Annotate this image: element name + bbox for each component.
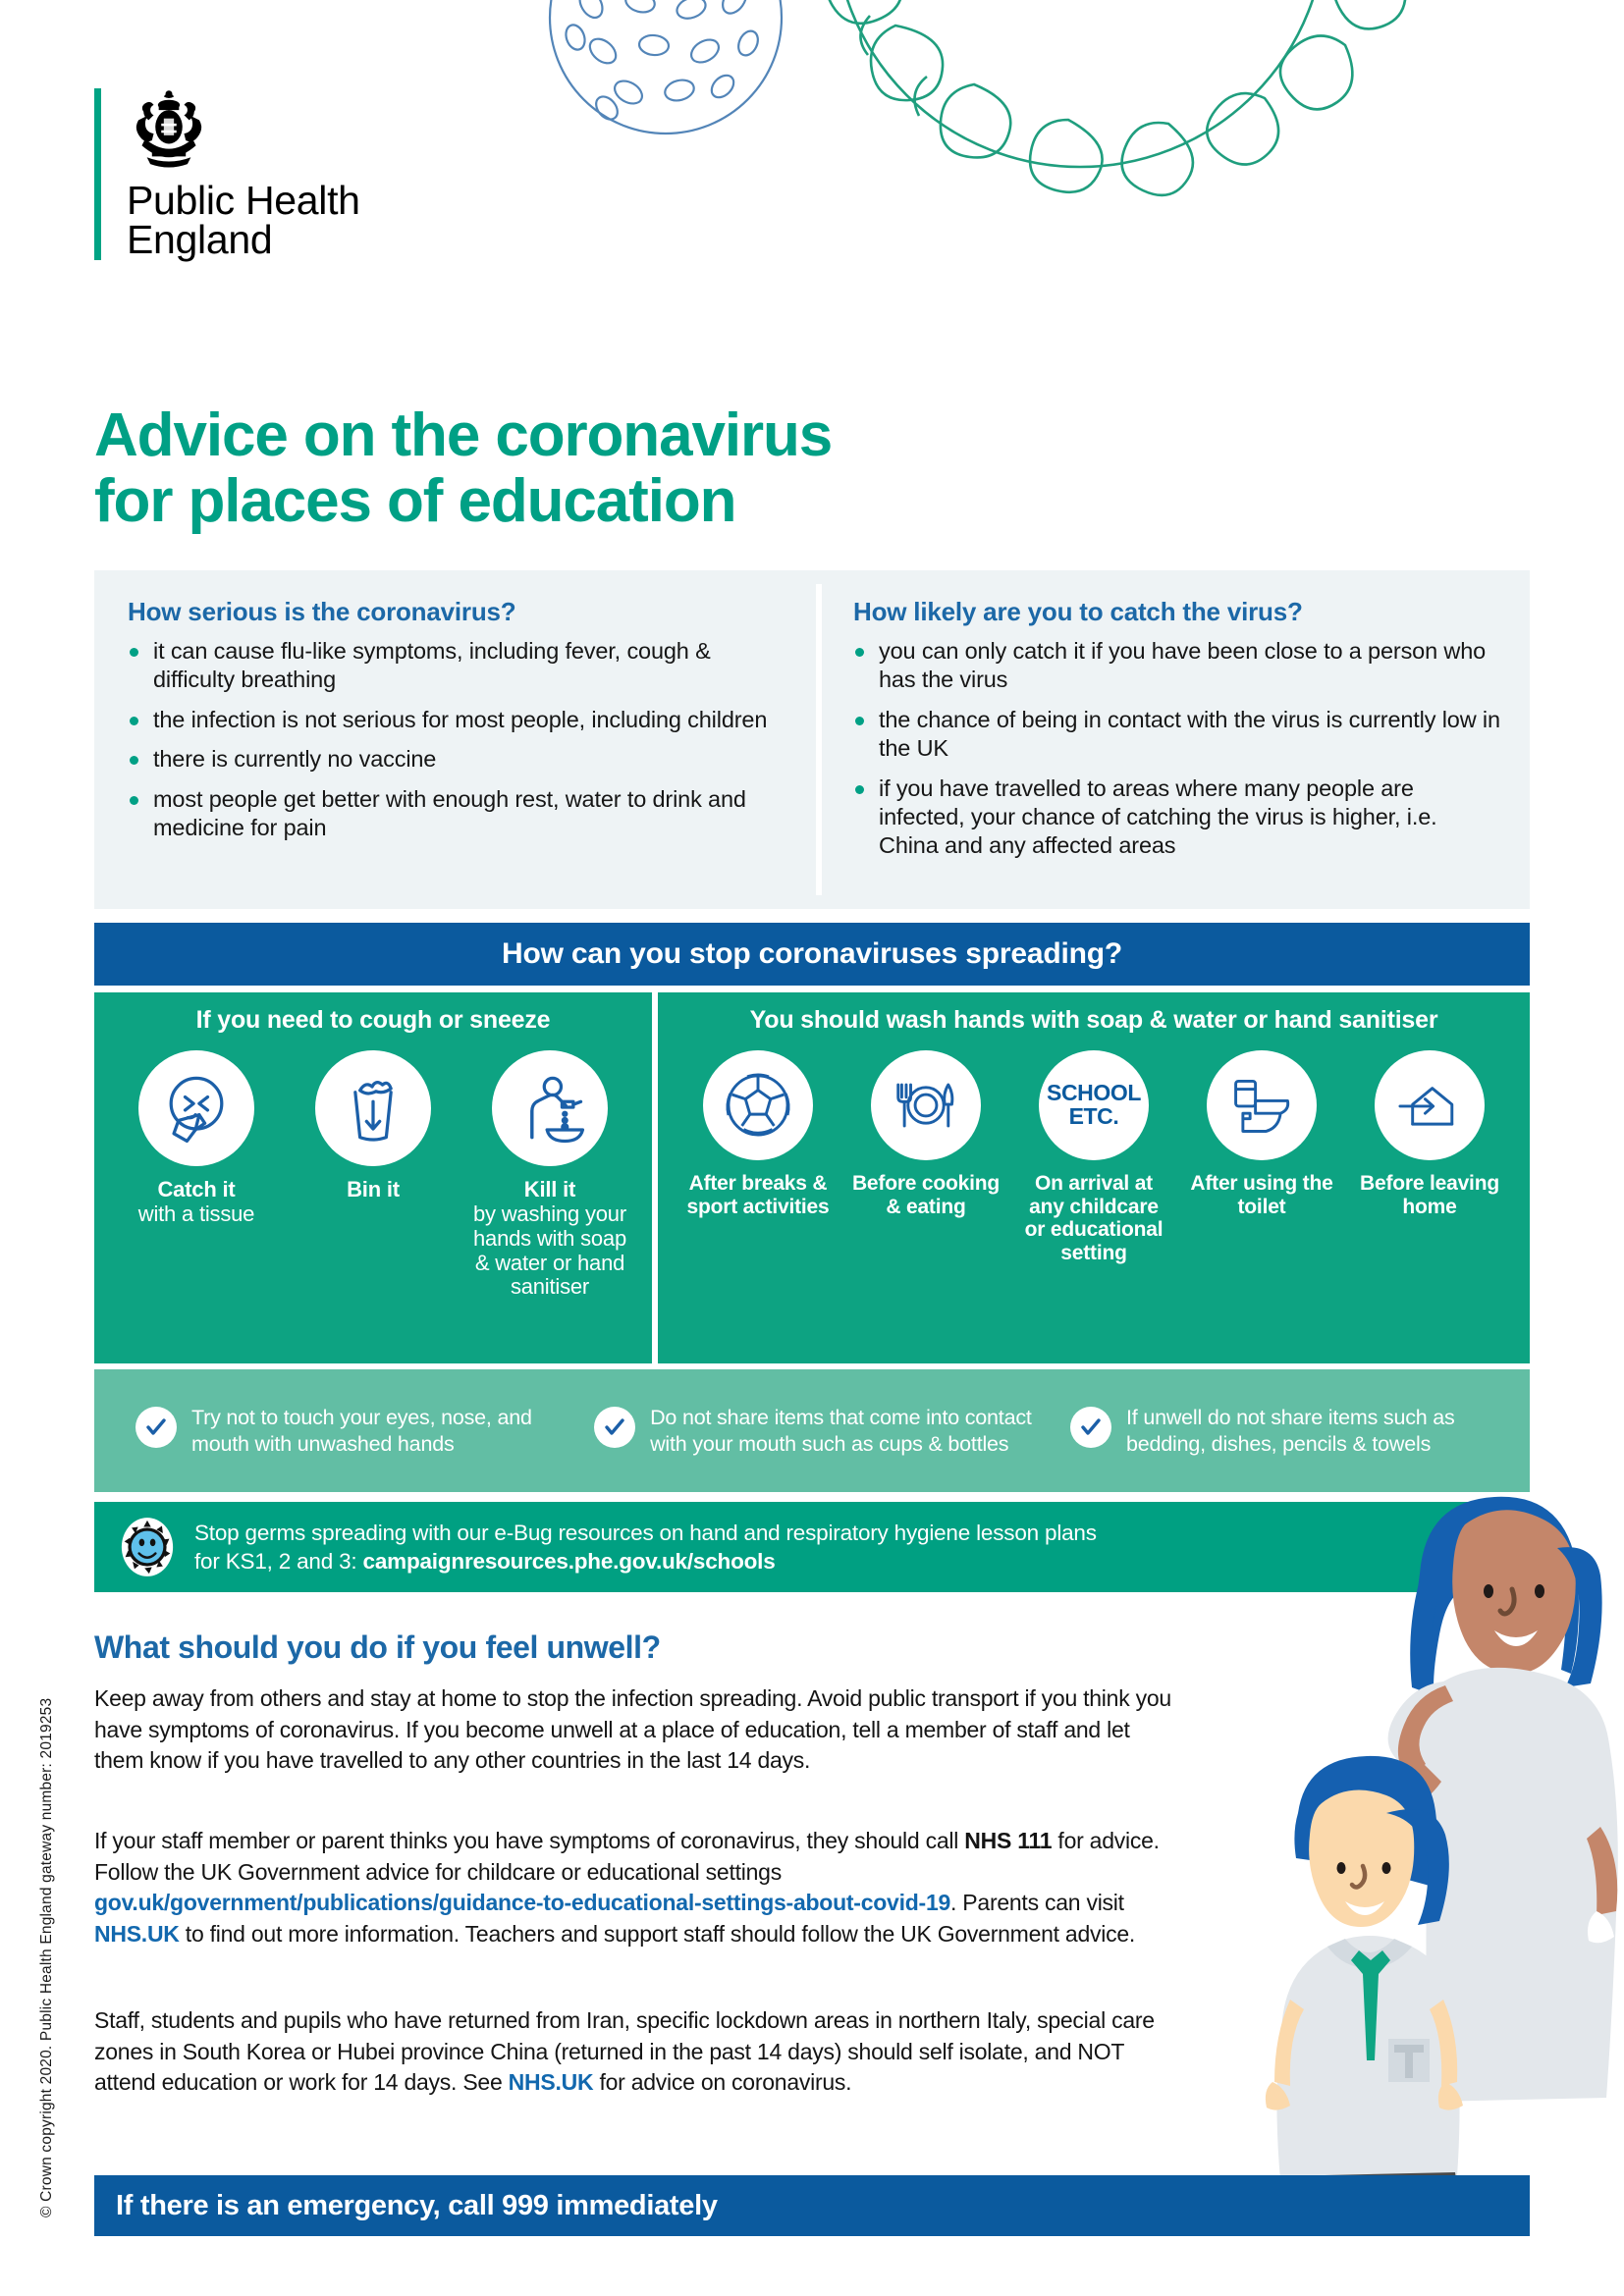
facts-bullet: the chance of being in contact with the … [853,706,1500,764]
ebug-text: Stop germs spreading with our e-Bug reso… [194,1519,1097,1576]
para2-d: to find out more information. Teachers a… [180,1921,1135,1947]
facts-bullet: if you have travelled to areas where man… [853,774,1500,861]
royal-coat-of-arms-icon [127,86,211,171]
bin-icon [315,1050,431,1166]
before-cooking-item: Before cooking & eating [850,1050,1001,1265]
logo-org-line1: Public Health [127,182,360,221]
cough-sneeze-heading: If you need to cough or sneeze [94,992,652,1035]
phe-logo: Public Health England [94,86,360,260]
page-title-line2: for places of education [94,468,832,534]
handwashing-icon [492,1050,608,1166]
unwell-paragraph-1: Keep away from others and stay at home t… [94,1683,1184,1798]
e-bug-germ-icon [120,1517,175,1577]
after-breaks-label: After breaks & sport activities [682,1172,834,1218]
page-title: Advice on the coronavirus for places of … [94,402,832,535]
para3-b: for advice on coronavirus. [593,2069,851,2095]
gov-uk-guidance-link[interactable]: gov.uk/government/publications/guidance-… [94,1890,950,1915]
before-leaving-label: Before leaving home [1354,1172,1505,1218]
logo-org-name: Public Health England [127,182,360,260]
tick-item: Do not share items that come into contac… [576,1405,1047,1458]
facts-bullet: it can cause flu-like symptoms, includin… [128,637,786,695]
tick-text: Try not to touch your eyes, nose, and mo… [191,1405,568,1458]
page-title-line1: Advice on the coronavirus [94,402,832,468]
facts-bullet: the infection is not serious for most pe… [128,706,786,734]
unwell-paragraph-3: Staff, students and pupils who have retu… [94,2005,1184,2120]
logo-org-line2: England [127,221,360,260]
facts-list-likely: you can only catch it if you have been c… [853,637,1500,861]
para2-a: If your staff member or parent thinks yo… [94,1828,964,1853]
ebug-resources-strip: Stop germs spreading with our e-Bug reso… [94,1502,1530,1592]
tick-text: Do not share items that come into contac… [650,1405,1039,1458]
kill-it-item: Kill it by washing your hands with soap … [472,1050,627,1300]
football-icon [703,1050,813,1160]
wash-hands-heading: You should wash hands with soap & water … [658,992,1530,1035]
plate-cutlery-icon [871,1050,981,1160]
on-arrival-item: SCHOOL ETC. On arrival at any childcare … [1018,1050,1169,1265]
tick-icon [135,1407,177,1448]
advice-tick-row: Try not to touch your eyes, nose, and mo… [94,1369,1530,1492]
unwell-para1-text: Keep away from others and stay at home t… [94,1683,1184,1777]
on-arrival-label: On arrival at any childcare or education… [1018,1172,1169,1265]
after-toilet-item: After using the toilet [1186,1050,1337,1265]
school-etc-line1: SCHOOL [1047,1082,1141,1105]
sneezing-face-icon [138,1050,254,1166]
facts-list-serious: it can cause flu-like symptoms, includin… [128,637,786,842]
tick-icon [594,1407,635,1448]
facts-bullet: most people get better with enough rest,… [128,785,786,843]
unwell-paragraph-2: If your staff member or parent thinks yo… [94,1826,1184,1971]
toilet-icon [1207,1050,1317,1160]
ebug-url[interactable]: campaignresources.phe.gov.uk/schools [363,1549,776,1574]
copyright-text: © Crown copyright 2020. Public Health En… [38,1589,56,2217]
house-arrow-icon [1375,1050,1485,1160]
ebug-line2-prefix: for KS1, 2 and 3: [194,1549,363,1574]
wash-hands-section: You should wash hands with soap & water … [658,992,1530,1363]
catch-it-label-bold: Catch it [119,1178,274,1202]
facts-bullet: you can only catch it if you have been c… [853,637,1500,695]
para2-c: . Parents can visit [950,1890,1124,1915]
cough-sneeze-section: If you need to cough or sneeze Catc [94,992,652,1363]
stop-spreading-banner: How can you stop coronaviruses spreading… [94,923,1530,986]
facts-heading-likely: How likely are you to catch the virus? [853,597,1500,627]
bin-it-label-bold: Bin it [296,1178,451,1202]
tick-item: If unwell do not share items such as bed… [1047,1405,1518,1458]
after-toilet-label: After using the toilet [1186,1172,1337,1218]
tick-icon [1070,1407,1111,1448]
poster-page: © Crown copyright 2020. Public Health En… [0,0,1624,2296]
after-breaks-item: After breaks & sport activities [682,1050,834,1265]
tick-text: If unwell do not share items such as bed… [1126,1405,1510,1458]
facts-panel: How serious is the coronavirus? it can c… [94,570,1530,909]
before-leaving-item: Before leaving home [1354,1050,1505,1265]
coronavirus-illustration [530,0,1624,314]
tick-item: Try not to touch your eyes, nose, and mo… [106,1405,576,1458]
facts-column-serious: How serious is the coronavirus? it can c… [94,570,816,909]
facts-column-likely: How likely are you to catch the virus? y… [822,570,1530,909]
school-etc-icon: SCHOOL ETC. [1039,1050,1149,1160]
school-etc-line2: ETC. [1047,1105,1141,1129]
nhs-uk-link[interactable]: NHS.UK [509,2069,594,2095]
catch-it-label-rest: with a tissue [119,1202,274,1227]
facts-heading-serious: How serious is the coronavirus? [128,597,786,627]
before-cooking-label: Before cooking & eating [850,1172,1001,1218]
prevention-icons-panel: If you need to cough or sneeze Catc [94,992,1530,1363]
nhs-uk-link[interactable]: NHS.UK [94,1921,180,1947]
unwell-heading: What should you do if you feel unwell? [94,1629,661,1666]
catch-it-item: Catch it with a tissue [119,1050,274,1300]
nhs-111: NHS 111 [964,1828,1052,1853]
bin-it-item: Bin it [296,1050,451,1300]
facts-bullet: there is currently no vaccine [128,745,786,774]
family-illustration [1212,1489,1624,2235]
ebug-line1: Stop germs spreading with our e-Bug reso… [194,1521,1097,1545]
logo-green-bar [94,88,101,260]
emergency-footer-banner: If there is an emergency, call 999 immed… [94,2175,1530,2236]
kill-it-label-bold: Kill it [472,1178,627,1202]
kill-it-label-rest: by washing your hands with soap & water … [472,1202,627,1300]
